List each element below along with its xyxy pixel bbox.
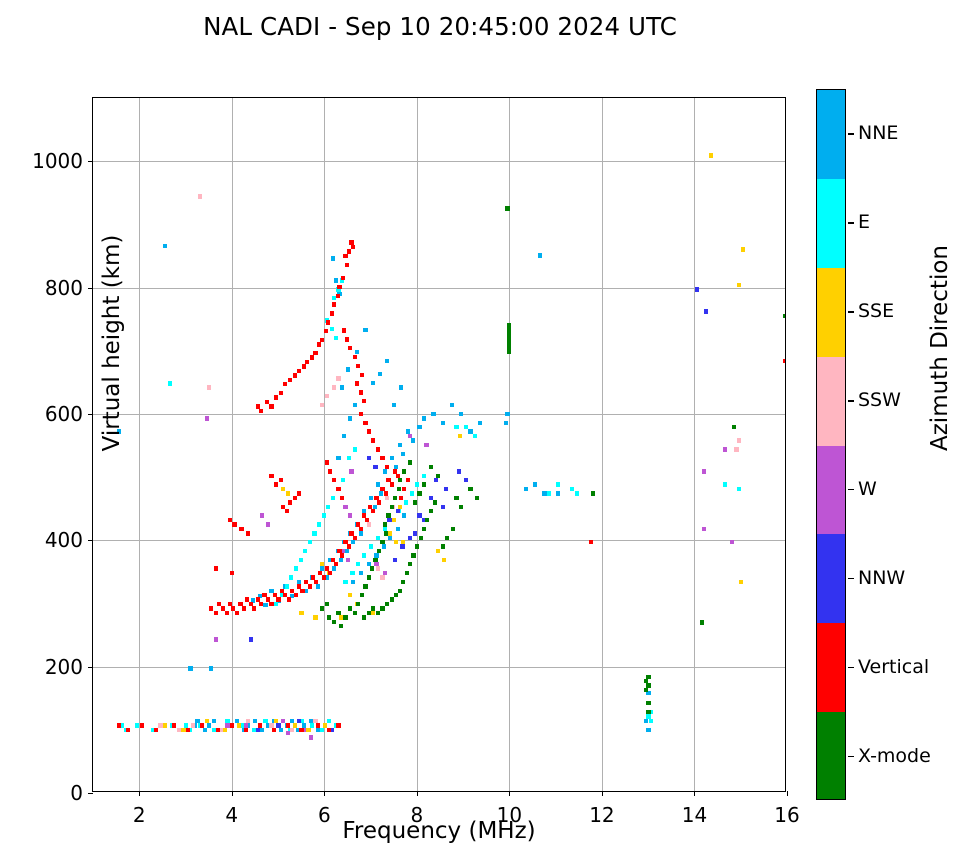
data-point <box>343 615 347 619</box>
data-point <box>286 723 290 727</box>
data-point <box>411 553 415 557</box>
data-point <box>400 544 404 548</box>
data-point <box>299 611 303 615</box>
data-point <box>741 247 745 251</box>
data-point <box>433 500 437 504</box>
ionogram-figure: NAL CADI - Sep 10 20:45:00 2024 UTC 2468… <box>0 0 958 857</box>
data-point <box>367 456 371 460</box>
data-point <box>351 540 355 544</box>
colorbar-segment-ssw[interactable] <box>817 357 845 446</box>
data-point <box>702 527 706 531</box>
data-point <box>327 615 331 619</box>
data-point <box>186 728 190 732</box>
data-point <box>367 611 371 615</box>
data-point <box>371 606 375 610</box>
data-point <box>362 615 366 619</box>
data-point <box>340 553 344 557</box>
data-point <box>363 584 367 588</box>
data-point <box>320 606 324 610</box>
data-point <box>402 469 406 473</box>
data-point <box>188 666 192 670</box>
data-point <box>737 487 741 491</box>
data-point <box>353 355 357 359</box>
data-point <box>406 478 410 482</box>
data-point <box>214 637 218 641</box>
data-point <box>468 429 472 433</box>
data-point <box>371 381 375 385</box>
data-point <box>422 474 426 478</box>
x-axis-tick <box>324 791 325 796</box>
colorbar-label-sse: SSE <box>858 300 894 322</box>
data-point <box>783 359 785 363</box>
data-point <box>542 491 546 495</box>
data-point <box>737 283 741 287</box>
data-point <box>279 391 283 395</box>
data-point <box>359 390 363 394</box>
data-point <box>413 531 417 535</box>
data-point <box>646 714 650 718</box>
data-point <box>396 527 400 531</box>
data-point <box>371 509 375 513</box>
x-axis-label: Frequency (MHz) <box>92 818 786 844</box>
data-point <box>326 320 330 324</box>
colorbar-segment-sse[interactable] <box>817 268 845 357</box>
data-point <box>326 505 330 509</box>
data-point <box>739 580 743 584</box>
data-point <box>507 345 511 349</box>
data-point <box>297 369 301 373</box>
data-point <box>200 723 204 727</box>
y-axis-tick-label: 800 <box>45 276 83 300</box>
data-point <box>411 438 415 442</box>
data-point <box>297 719 301 723</box>
data-point <box>380 575 384 579</box>
colorbar-label-e: E <box>858 211 870 233</box>
data-point <box>362 553 366 557</box>
colorbar[interactable] <box>816 89 846 800</box>
data-point <box>441 505 445 509</box>
data-point <box>330 311 334 315</box>
data-point <box>340 385 344 389</box>
data-point <box>390 597 394 601</box>
data-point <box>313 351 317 355</box>
data-point <box>339 615 343 619</box>
data-point <box>265 400 269 404</box>
data-point <box>339 558 343 562</box>
data-point <box>393 558 397 562</box>
data-point <box>205 719 209 723</box>
data-point <box>276 723 280 727</box>
data-point <box>505 412 509 416</box>
y-axis-tick-label: 600 <box>45 402 83 426</box>
data-point <box>458 434 462 438</box>
colorbar-label-vertical: Vertical <box>858 656 929 678</box>
data-layer <box>93 98 785 791</box>
data-point <box>379 491 383 495</box>
data-point <box>317 342 321 346</box>
colorbar-segment-e[interactable] <box>817 179 845 268</box>
data-point <box>363 328 367 332</box>
data-point <box>300 589 304 593</box>
data-point <box>343 505 347 509</box>
y-axis-tick-label: 0 <box>70 781 83 805</box>
data-point <box>191 723 195 727</box>
data-point <box>237 723 241 727</box>
data-point <box>413 500 417 504</box>
data-point <box>337 285 341 289</box>
data-point <box>242 606 246 610</box>
data-point <box>297 491 301 495</box>
data-point <box>392 518 396 522</box>
data-point <box>289 575 293 579</box>
data-point <box>591 491 595 495</box>
y-axis-label: Virtual height (km) <box>99 223 125 463</box>
data-point <box>312 531 316 535</box>
data-point <box>228 518 232 522</box>
data-point <box>384 491 388 495</box>
data-point <box>332 385 336 389</box>
page-title: NAL CADI - Sep 10 20:45:00 2024 UTC <box>0 12 880 41</box>
data-point <box>244 728 248 732</box>
x-axis-tick <box>509 791 510 796</box>
data-point <box>363 421 367 425</box>
data-point <box>288 378 292 382</box>
data-point <box>209 666 213 670</box>
data-point <box>415 544 419 548</box>
data-point <box>385 602 389 606</box>
data-point <box>504 421 508 425</box>
data-point <box>303 549 307 553</box>
data-point <box>332 620 336 624</box>
data-point <box>434 478 438 482</box>
data-point <box>332 566 336 570</box>
data-point <box>225 723 229 727</box>
data-point <box>376 611 380 615</box>
data-point <box>646 710 650 714</box>
data-point <box>429 465 433 469</box>
data-point <box>345 549 349 553</box>
data-point <box>436 474 440 478</box>
data-point <box>385 465 389 469</box>
data-point <box>246 531 250 535</box>
data-point <box>402 487 406 491</box>
data-point <box>286 491 290 495</box>
data-point <box>336 456 340 460</box>
data-point <box>442 558 446 562</box>
colorbar-segment-vertical[interactable] <box>817 623 845 712</box>
data-point <box>293 373 297 377</box>
data-point <box>709 153 713 157</box>
data-point <box>422 527 426 531</box>
data-point <box>417 513 421 517</box>
data-point <box>783 314 785 318</box>
data-point <box>374 562 378 566</box>
data-point <box>350 571 354 575</box>
data-point <box>203 728 207 732</box>
data-point <box>348 593 352 597</box>
data-point <box>305 360 309 364</box>
data-point <box>216 728 220 732</box>
data-point <box>346 558 350 562</box>
data-point <box>341 478 345 482</box>
data-point <box>404 500 408 504</box>
colorbar-tick <box>848 667 854 669</box>
data-point <box>342 434 346 438</box>
data-point <box>702 469 706 473</box>
data-point <box>281 719 285 723</box>
x-axis-tick <box>139 791 140 796</box>
colorbar-tick <box>848 311 854 313</box>
data-point <box>327 728 331 732</box>
data-point <box>324 329 328 333</box>
data-point <box>336 376 340 380</box>
data-point <box>343 580 347 584</box>
data-point <box>328 571 332 575</box>
data-point <box>330 327 334 331</box>
data-point <box>383 571 387 575</box>
data-point <box>214 566 218 570</box>
data-point <box>253 719 257 723</box>
data-point <box>336 611 340 615</box>
data-point <box>299 728 303 732</box>
data-point <box>370 566 374 570</box>
data-point <box>294 593 298 597</box>
data-point <box>274 482 278 486</box>
data-point <box>398 443 402 447</box>
data-point <box>351 245 355 249</box>
data-point <box>377 549 381 553</box>
data-point <box>367 429 371 433</box>
data-point <box>402 513 406 517</box>
data-point <box>410 491 414 495</box>
data-point <box>181 728 185 732</box>
data-point <box>359 412 363 416</box>
data-point <box>320 562 324 566</box>
data-point <box>417 425 421 429</box>
data-point <box>444 487 448 491</box>
colorbar-tick <box>848 400 854 402</box>
data-point <box>415 482 419 486</box>
y-axis-tick-label: 1000 <box>32 149 83 173</box>
data-point <box>323 723 327 727</box>
data-point <box>343 254 347 258</box>
data-point <box>360 593 364 597</box>
data-point <box>223 728 227 732</box>
colorbar-segment-nnw[interactable] <box>817 534 845 623</box>
data-point <box>287 597 291 601</box>
data-point <box>431 412 435 416</box>
y-axis-tick <box>88 161 93 162</box>
data-point <box>346 367 350 371</box>
data-point <box>401 580 405 584</box>
data-point <box>533 482 537 486</box>
data-point <box>386 513 390 517</box>
data-point <box>507 349 511 353</box>
data-point <box>299 558 303 562</box>
data-point <box>399 496 403 500</box>
data-point <box>320 728 324 732</box>
data-point <box>382 544 386 548</box>
data-point <box>387 518 391 522</box>
y-axis-tick <box>88 667 93 668</box>
data-point <box>451 527 455 531</box>
data-point <box>140 723 144 727</box>
data-point <box>205 416 209 420</box>
x-axis-tick <box>417 791 418 796</box>
data-point <box>376 536 380 540</box>
data-point <box>207 723 211 727</box>
data-point <box>380 606 384 610</box>
data-point <box>556 491 560 495</box>
data-point <box>332 302 336 306</box>
data-point <box>360 373 364 377</box>
data-point <box>341 276 345 280</box>
data-point <box>334 336 338 340</box>
data-point <box>459 412 463 416</box>
data-point <box>263 719 267 723</box>
data-point <box>314 580 318 584</box>
data-point <box>274 602 278 606</box>
data-point <box>408 536 412 540</box>
data-point <box>331 256 335 260</box>
data-point <box>332 478 336 482</box>
data-point <box>353 536 357 540</box>
data-point <box>417 491 421 495</box>
data-point <box>294 566 298 570</box>
data-point <box>425 518 429 522</box>
data-point <box>371 611 375 615</box>
data-point <box>336 723 340 727</box>
data-point <box>507 327 511 331</box>
data-point <box>260 513 264 517</box>
data-point <box>286 731 290 735</box>
data-point <box>339 624 343 628</box>
data-point <box>401 452 405 456</box>
data-point <box>424 443 428 447</box>
colorbar-label-w: W <box>858 478 877 500</box>
data-point <box>644 688 648 692</box>
data-point <box>308 540 312 544</box>
data-point <box>649 719 653 723</box>
data-point <box>317 522 321 526</box>
data-point <box>380 456 384 460</box>
data-point <box>209 606 213 610</box>
data-point <box>276 597 280 601</box>
data-point <box>570 487 574 491</box>
data-point <box>373 465 377 469</box>
data-point <box>547 491 551 495</box>
data-point <box>429 509 433 513</box>
data-point <box>524 487 528 491</box>
data-point <box>348 416 352 420</box>
data-point <box>172 723 176 727</box>
colorbar-segment-w[interactable] <box>817 446 845 535</box>
data-point <box>302 364 306 368</box>
data-point <box>385 496 389 500</box>
data-point <box>359 531 363 535</box>
data-point <box>256 728 260 732</box>
data-point <box>390 505 394 509</box>
data-point <box>225 611 229 615</box>
data-point <box>589 540 593 544</box>
data-point <box>230 571 234 575</box>
data-point <box>316 723 320 727</box>
data-point <box>345 263 349 267</box>
data-point <box>556 482 560 486</box>
data-point <box>230 723 234 727</box>
colorbar-segment-x-mode[interactable] <box>817 712 845 800</box>
data-point <box>322 513 326 517</box>
data-point <box>272 728 276 732</box>
data-point <box>274 395 278 399</box>
data-point <box>336 487 340 491</box>
data-point <box>369 544 373 548</box>
data-point <box>398 478 402 482</box>
data-point <box>507 336 511 340</box>
data-point <box>383 469 387 473</box>
data-point <box>353 447 357 451</box>
colorbar-segment-nne[interactable] <box>817 90 845 179</box>
data-point <box>454 425 458 429</box>
x-axis-tick <box>602 791 603 796</box>
data-point <box>283 382 287 386</box>
data-point <box>394 540 398 544</box>
data-point <box>398 589 402 593</box>
data-point <box>700 620 704 624</box>
data-point <box>163 723 167 727</box>
data-point <box>348 513 352 517</box>
data-point <box>281 487 285 491</box>
data-point <box>347 456 351 460</box>
data-point <box>320 338 324 342</box>
y-axis-tick-label: 200 <box>45 655 83 679</box>
data-point <box>734 447 738 451</box>
data-point <box>290 728 294 732</box>
data-point <box>348 346 352 350</box>
data-point <box>468 487 472 491</box>
y-axis-tick <box>88 414 93 415</box>
data-point <box>269 404 273 408</box>
data-point <box>309 735 313 739</box>
x-axis-tick <box>787 791 788 796</box>
data-point <box>232 522 236 526</box>
data-point <box>695 287 699 291</box>
data-point <box>376 566 380 570</box>
data-point <box>320 403 324 407</box>
data-point <box>117 723 121 727</box>
data-point <box>345 337 349 341</box>
data-point <box>288 500 292 504</box>
data-point <box>408 562 412 566</box>
data-point <box>390 456 394 460</box>
data-point <box>316 728 320 732</box>
data-point <box>334 278 338 282</box>
data-point <box>356 602 360 606</box>
data-point <box>393 496 397 500</box>
data-point <box>646 701 650 705</box>
data-point <box>737 438 741 442</box>
data-point <box>436 549 440 553</box>
data-point <box>723 447 727 451</box>
data-point <box>269 474 273 478</box>
data-point <box>285 509 289 513</box>
data-point <box>313 615 317 619</box>
data-point <box>348 606 352 610</box>
data-point <box>331 496 335 500</box>
data-point <box>269 602 273 606</box>
data-point <box>359 571 363 575</box>
data-point <box>328 469 332 473</box>
